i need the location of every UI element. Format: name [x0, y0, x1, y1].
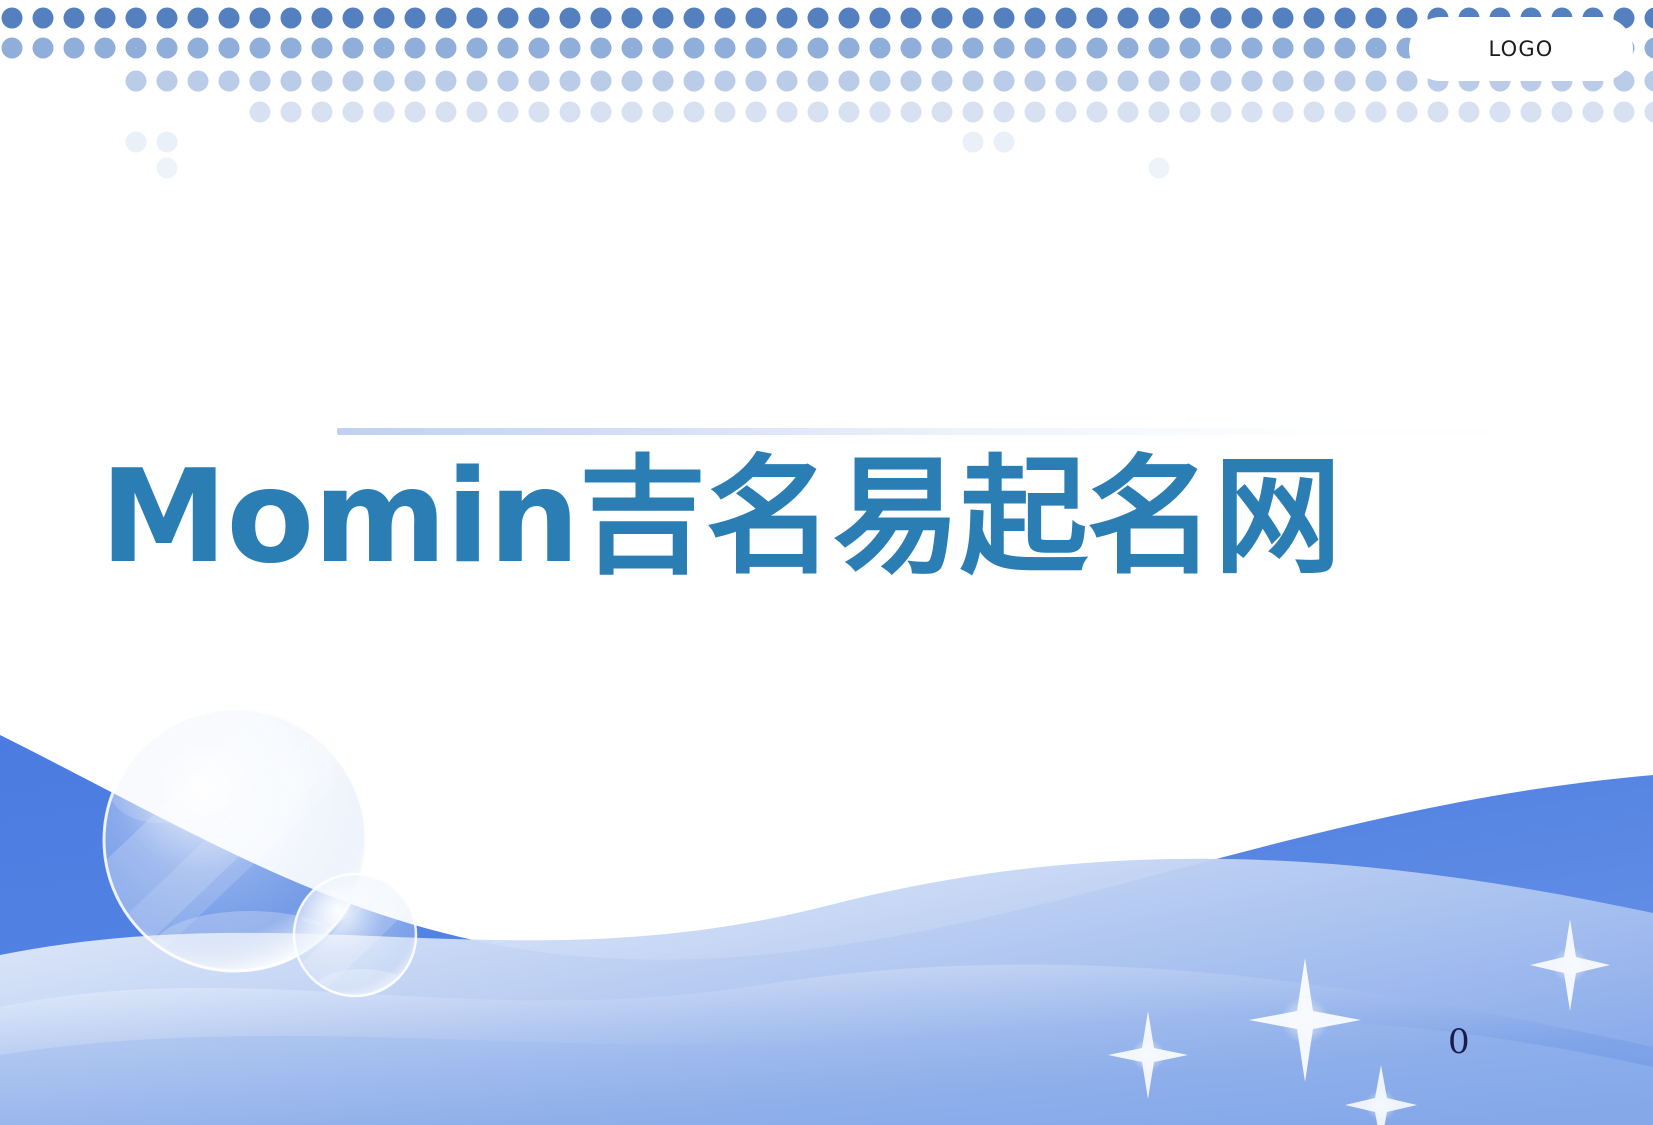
bottom-wave-artwork [0, 655, 1653, 1125]
large-bubble [80, 675, 372, 983]
page-number: 0 [1448, 1022, 1470, 1062]
dot-pattern-decoration [0, 0, 1653, 195]
logo-placeholder[interactable]: LOGO [1409, 17, 1633, 81]
sparkle-group [1108, 919, 1610, 1125]
logo-label: LOGO [1488, 37, 1553, 61]
slide-canvas: LOGO Momin吉名易起名网 [0, 0, 1653, 1125]
slide-title: Momin吉名易起名网 [100, 425, 1560, 610]
small-bubble [291, 863, 424, 1001]
